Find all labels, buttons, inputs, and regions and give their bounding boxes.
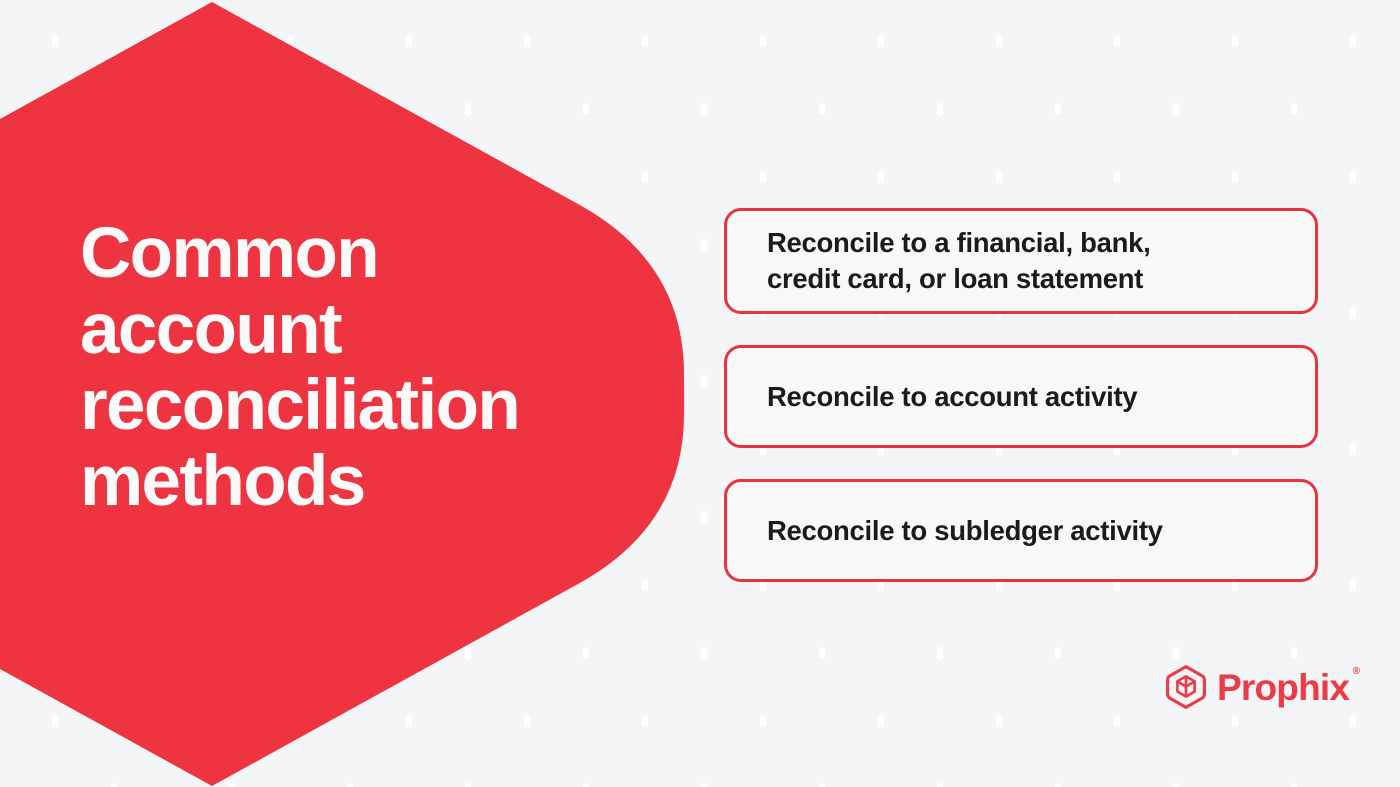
- prophix-wordmark-text: Prophix: [1217, 667, 1349, 708]
- page-title-line: Common: [80, 216, 660, 292]
- method-card-line: Reconcile to subledger activity: [767, 513, 1163, 549]
- method-card[interactable]: Reconcile to account activity: [724, 345, 1318, 448]
- method-card-line: Reconcile to a financial, bank,: [767, 225, 1150, 261]
- page-title: Common account reconciliation methods: [80, 216, 660, 520]
- prophix-cube-hexagon-icon: [1166, 665, 1206, 709]
- method-card-list: Reconcile to a financial, bank, credit c…: [724, 208, 1318, 582]
- page-title-line: account: [80, 292, 660, 368]
- page-title-line: reconciliation: [80, 368, 660, 444]
- method-card-line: credit card, or loan statement: [767, 261, 1150, 297]
- prophix-wordmark: Prophix ®: [1217, 669, 1349, 706]
- method-card-text: Reconcile to a financial, bank, credit c…: [767, 225, 1150, 297]
- method-card-line: Reconcile to account activity: [767, 379, 1137, 415]
- prophix-logo: Prophix ®: [1166, 665, 1349, 709]
- method-card[interactable]: Reconcile to subledger activity: [724, 479, 1318, 582]
- method-card-text: Reconcile to account activity: [767, 379, 1137, 415]
- registered-trademark-symbol: ®: [1353, 667, 1360, 677]
- method-card[interactable]: Reconcile to a financial, bank, credit c…: [724, 208, 1318, 314]
- method-card-text: Reconcile to subledger activity: [767, 513, 1163, 549]
- slide-canvas: Common account reconciliation methods Re…: [0, 0, 1400, 787]
- page-title-line: methods: [80, 444, 660, 520]
